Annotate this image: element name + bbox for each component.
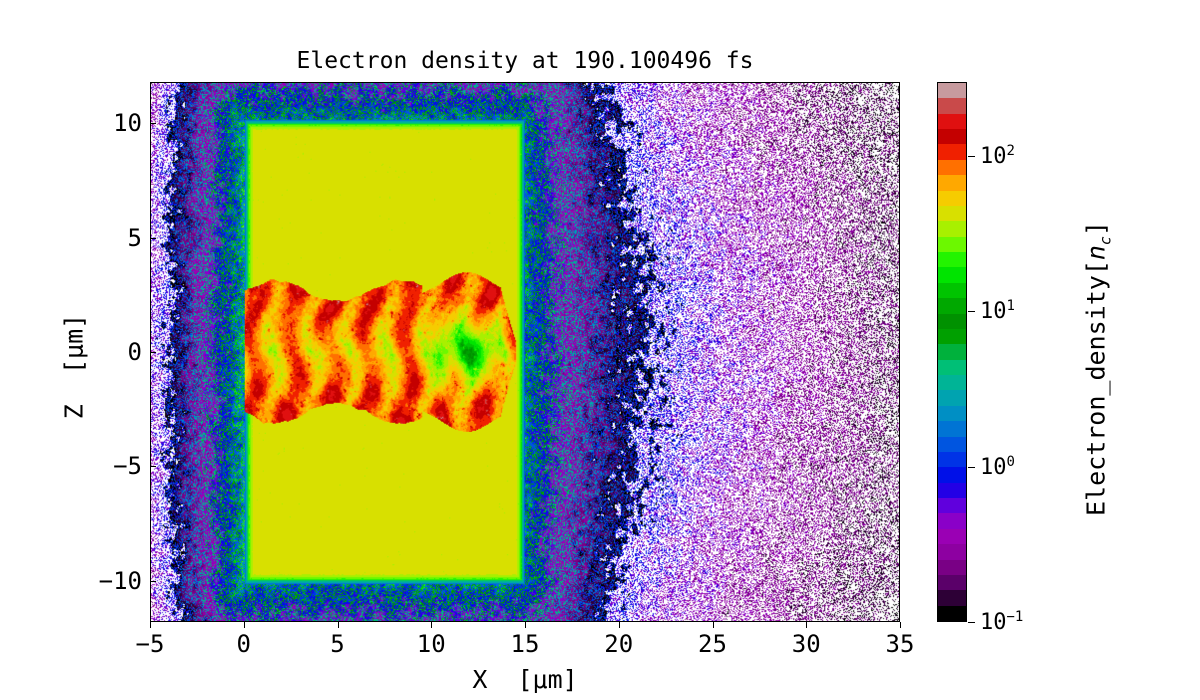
colorbar-band — [938, 437, 966, 452]
colorbar-band — [938, 590, 966, 605]
colorbar-tick-base: 10 — [980, 300, 1007, 325]
colorbar-tick-base: 10 — [980, 610, 1007, 635]
colorbar-band — [938, 144, 966, 159]
x-tick — [619, 622, 620, 628]
colorbar-band — [938, 283, 966, 298]
colorbar-tick-label: 100 — [980, 454, 1015, 480]
colorbar-band — [938, 421, 966, 436]
colorbar-band — [938, 114, 966, 129]
colorbar-band — [938, 329, 966, 344]
colorbar-tick-label: 102 — [980, 143, 1015, 169]
colorbar-tick-base: 10 — [980, 455, 1007, 480]
colorbar-label-symbol: n — [1082, 245, 1111, 260]
y-tick-label: 10 — [113, 109, 142, 137]
colorbar-label-subscript: c — [1097, 236, 1115, 245]
colorbar-band — [938, 560, 966, 575]
x-tick-label: 20 — [604, 630, 633, 658]
x-tick — [244, 622, 245, 628]
colorbar-tick-exponent: 1 — [1007, 298, 1015, 314]
colorbar-band — [938, 529, 966, 544]
colorbar-tick — [968, 622, 975, 623]
x-tick-label: 35 — [886, 630, 915, 658]
colorbar-band — [938, 314, 966, 329]
colorbar-band — [938, 375, 966, 390]
x-tick — [713, 622, 714, 628]
colorbar-band — [938, 467, 966, 482]
electron-density-heatmap — [151, 83, 899, 621]
x-tick — [525, 622, 526, 628]
y-tick — [150, 581, 156, 582]
x-tick-label: 15 — [511, 630, 540, 658]
y-tick — [150, 466, 156, 467]
colorbar-label: Electron_density[nc] — [1082, 99, 1115, 639]
colorbar-band — [938, 575, 966, 590]
colorbar-band — [938, 483, 966, 498]
colorbar-tick-exponent: −1 — [1007, 609, 1024, 625]
x-tick-label: 30 — [792, 630, 821, 658]
y-axis-label: Z [μm] — [60, 97, 89, 637]
x-tick — [806, 622, 807, 628]
colorbar-band — [938, 237, 966, 252]
colorbar-band — [938, 513, 966, 528]
colorbar — [937, 82, 967, 622]
colorbar-band — [938, 191, 966, 206]
x-tick-label: 10 — [417, 630, 446, 658]
colorbar-band — [938, 344, 966, 359]
colorbar-tick-exponent: 0 — [1007, 454, 1015, 470]
y-tick-label: −5 — [113, 452, 142, 480]
colorbar-band — [938, 175, 966, 190]
colorbar-tick-label: 101 — [980, 298, 1015, 324]
colorbar-band — [938, 83, 966, 98]
y-tick-label: 0 — [128, 338, 142, 366]
colorbar-tick — [968, 311, 975, 312]
colorbar-label-main: Electron_density[ — [1082, 260, 1111, 516]
colorbar-tick-base: 10 — [980, 144, 1007, 169]
colorbar-tick-exponent: 2 — [1007, 143, 1015, 159]
colorbar-tick — [968, 156, 975, 157]
colorbar-band — [938, 606, 966, 621]
colorbar-band — [938, 267, 966, 282]
colorbar-band — [938, 360, 966, 375]
plot-axes — [150, 82, 900, 622]
x-tick — [338, 622, 339, 628]
plot-title: Electron density at 190.100496 fs — [150, 48, 900, 74]
colorbar-band — [938, 129, 966, 144]
colorbar-band — [938, 252, 966, 267]
colorbar-band — [938, 390, 966, 405]
y-tick — [150, 238, 156, 239]
colorbar-tick — [968, 467, 975, 468]
x-axis-label: X [μm] — [150, 665, 900, 694]
y-tick — [150, 123, 156, 124]
figure-root: Electron density at 190.100496 fs X [μm]… — [0, 0, 1200, 700]
y-tick-label: −10 — [99, 567, 142, 595]
colorbar-band — [938, 98, 966, 113]
colorbar-band — [938, 452, 966, 467]
colorbar-band — [938, 221, 966, 236]
x-tick — [900, 622, 901, 628]
x-tick-label: 5 — [330, 630, 344, 658]
colorbar-band — [938, 206, 966, 221]
colorbar-label-close: ] — [1082, 221, 1111, 236]
colorbar-band — [938, 406, 966, 421]
colorbar-tick-label: 10−1 — [980, 609, 1023, 635]
x-tick-label: 25 — [698, 630, 727, 658]
y-tick — [150, 352, 156, 353]
colorbar-band — [938, 544, 966, 559]
x-tick — [150, 622, 151, 628]
colorbar-band — [938, 498, 966, 513]
colorbar-band — [938, 298, 966, 313]
colorbar-band — [938, 160, 966, 175]
y-tick-label: 5 — [128, 224, 142, 252]
x-tick — [431, 622, 432, 628]
x-tick-label: −5 — [136, 630, 165, 658]
x-tick-label: 0 — [237, 630, 251, 658]
